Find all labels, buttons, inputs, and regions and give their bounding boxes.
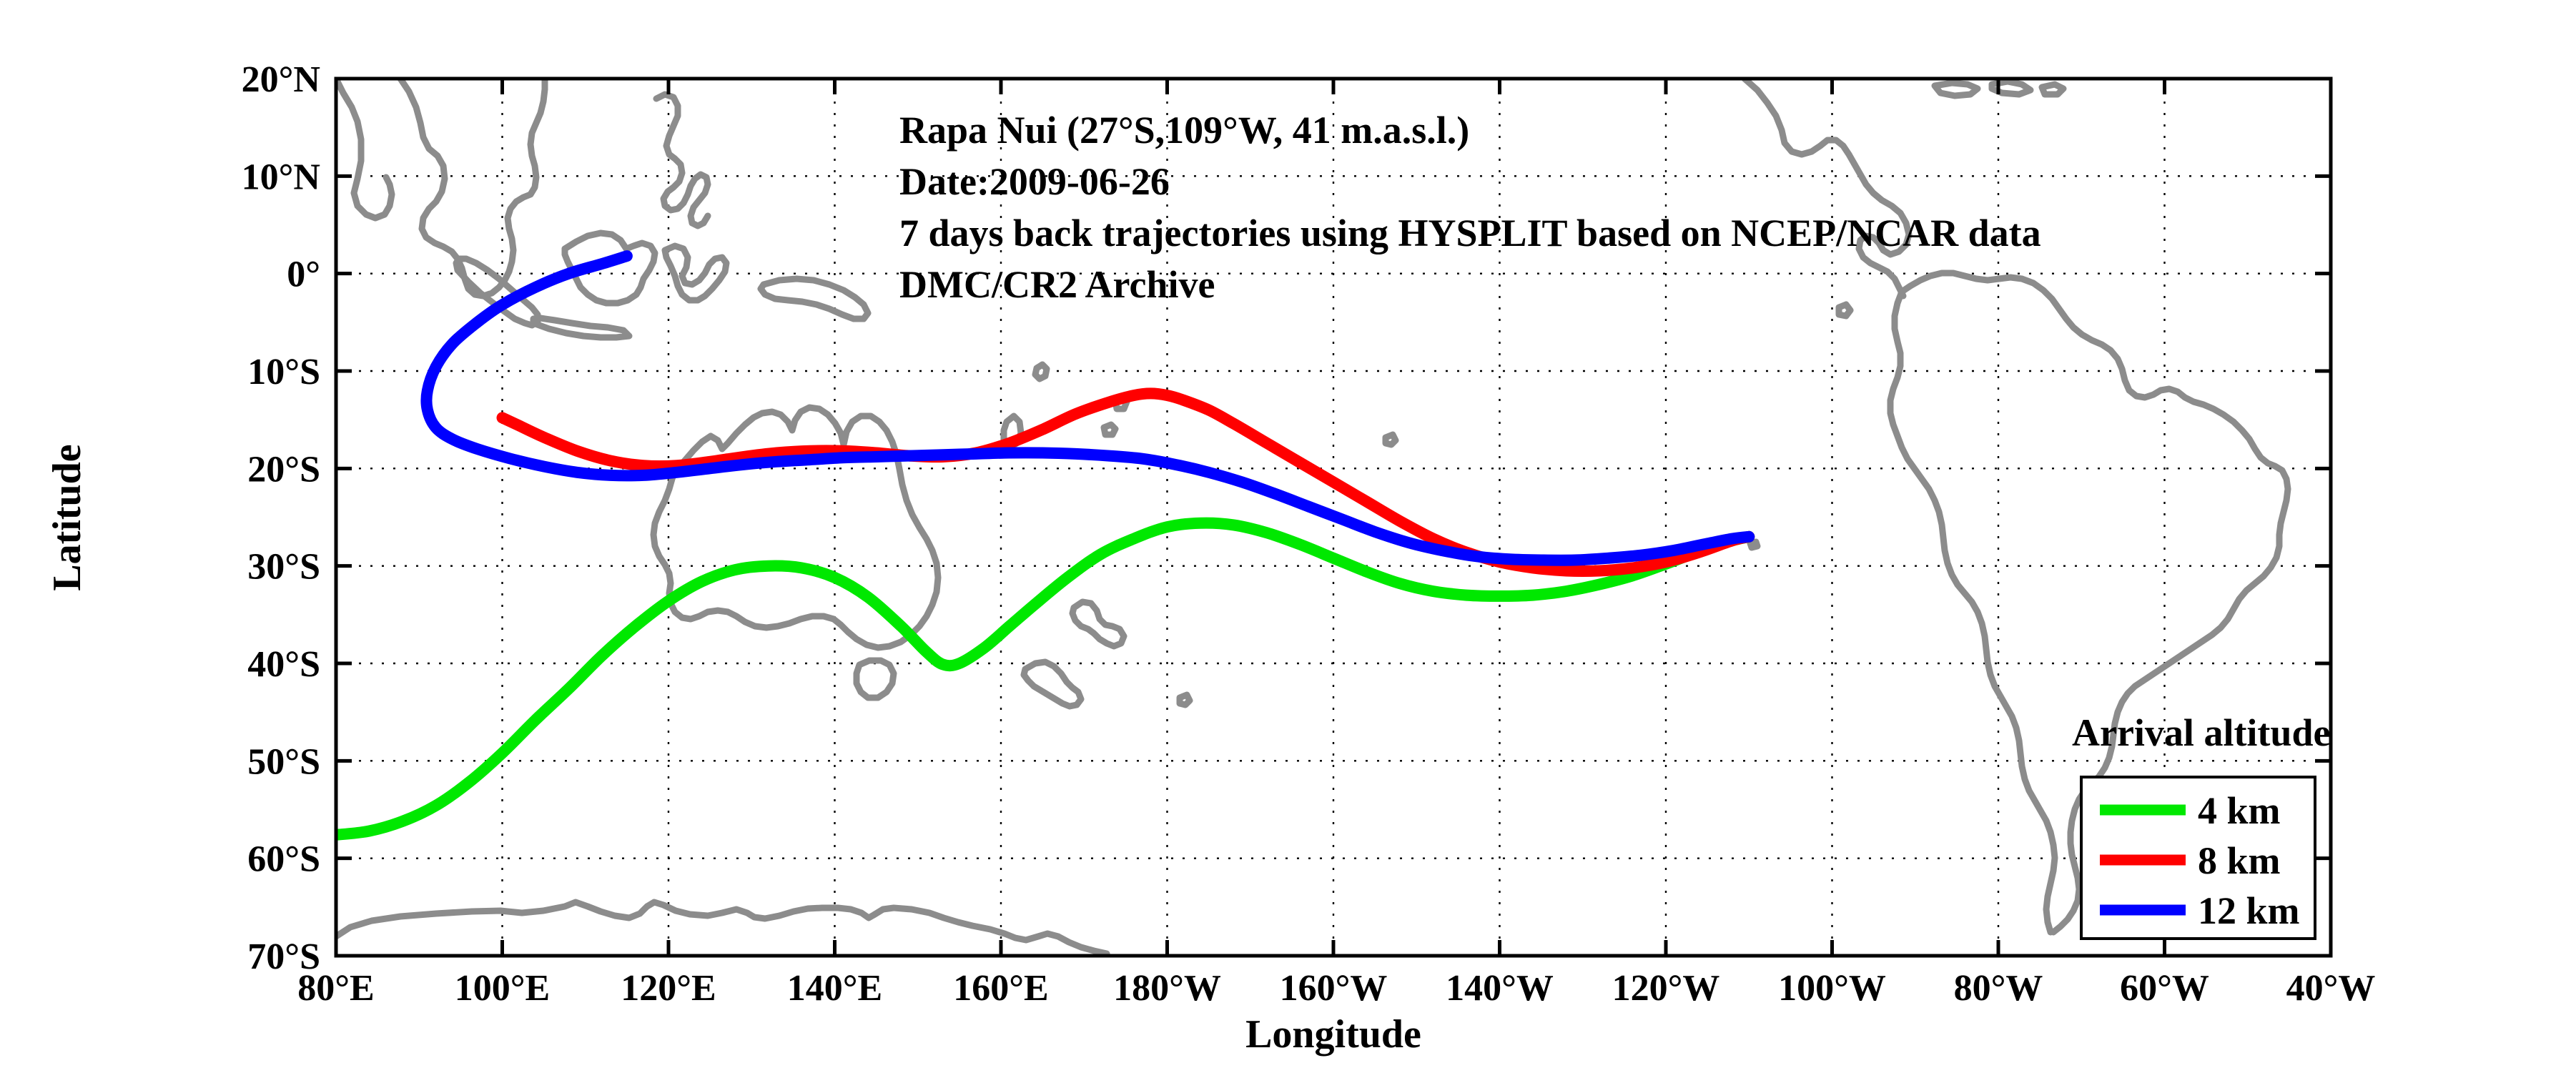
y-tick-label: 10°N bbox=[242, 157, 320, 197]
x-tick-label: 60°W bbox=[2120, 968, 2209, 1009]
legend-label-4km: 4 km bbox=[2198, 789, 2281, 832]
y-tick-label: 40°S bbox=[247, 644, 320, 685]
x-axis-title: Longitude bbox=[1245, 1012, 1421, 1057]
legend[interactable]: Arrival altitude 4 km 8 km 12 km bbox=[2072, 711, 2330, 939]
y-tick-label: 20°S bbox=[247, 449, 320, 490]
x-tick-label: 140°W bbox=[1446, 968, 1554, 1009]
x-tick-label: 100°W bbox=[1778, 968, 1886, 1009]
y-tick-label: 0° bbox=[287, 254, 320, 295]
x-tick-label: 140°E bbox=[787, 968, 882, 1009]
y-tick-label: 70°S bbox=[247, 936, 320, 977]
y-tick-label: 50°S bbox=[247, 741, 320, 782]
y-tick-label: 10°S bbox=[247, 352, 320, 392]
x-tick-label: 160°W bbox=[1280, 968, 1388, 1009]
y-tick-label: 30°S bbox=[247, 547, 320, 588]
x-tick-label: 80°W bbox=[1954, 968, 2043, 1009]
x-tick-label: 120°W bbox=[1612, 968, 1720, 1009]
x-tick-label: 180°W bbox=[1113, 968, 1221, 1009]
annotation-line-2: Date:2009-06-26 bbox=[899, 160, 1170, 203]
figure-canvas: 80°E100°E120°E140°E160°E180°W160°W140°W1… bbox=[0, 0, 2576, 1073]
x-tick-label: 100°E bbox=[455, 968, 550, 1009]
legend-label-8km: 8 km bbox=[2198, 839, 2281, 882]
legend-title: Arrival altitude bbox=[2072, 711, 2330, 754]
x-tick-label: 120°E bbox=[621, 968, 716, 1009]
legend-label-12km: 12 km bbox=[2198, 889, 2300, 932]
y-tick-label: 60°S bbox=[247, 839, 320, 880]
annotation-line-1: Rapa Nui (27°S,109°W, 41 m.a.s.l.) bbox=[899, 109, 1469, 152]
trajectory-map-plot: 80°E100°E120°E140°E160°E180°W160°W140°W1… bbox=[0, 0, 2576, 1073]
coastline-juan-fernandez bbox=[1750, 542, 1757, 548]
annotation-line-3: 7 days back trajectories using HYSPLIT b… bbox=[899, 212, 2041, 254]
x-tick-label: 160°E bbox=[953, 968, 1048, 1009]
y-tick-label: 20°N bbox=[242, 59, 320, 100]
y-axis-title: Latitude bbox=[45, 444, 89, 590]
annotation-line-4: DMC/CR2 Archive bbox=[899, 263, 1215, 306]
x-tick-label: 40°W bbox=[2286, 968, 2376, 1009]
